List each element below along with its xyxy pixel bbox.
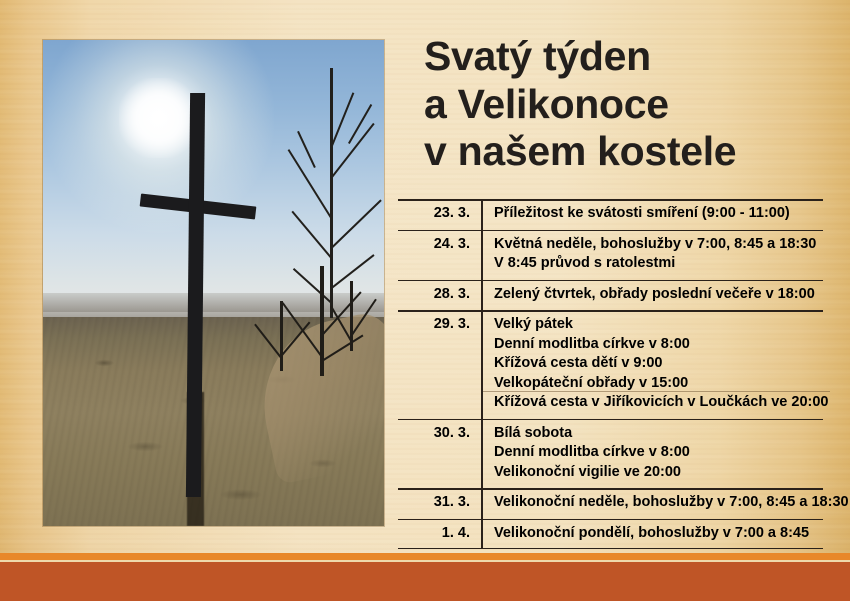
schedule-description: Velikonoční pondělí, bohoslužby v 7:00 a… [481, 519, 823, 550]
schedule-line: Velký pátek [494, 315, 828, 335]
row-rule [398, 419, 823, 421]
schedule-line: V 8:45 průvod s ratolestmi [494, 254, 823, 274]
title-line-3: v našem kostele [424, 128, 844, 176]
schedule-table: 23. 3.Příležitost ke svátosti smíření (9… [398, 199, 823, 549]
schedule-description: Květná neděle, bohoslužby v 7:00, 8:45 a… [481, 230, 823, 280]
schedule-row: 23. 3.Příležitost ke svátosti smíření (9… [398, 199, 823, 230]
schedule-description: Příležitost ke svátosti smíření (9:00 - … [481, 199, 823, 230]
schedule-line: Zelený čtvrtek, obřady poslední večeře v… [494, 285, 823, 305]
page-title: Svatý týden a Velikonoce v našem kostele [424, 33, 844, 176]
schedule-date: 31. 3. [398, 488, 481, 519]
schedule-line: Velikonoční pondělí, bohoslužby v 7:00 a… [494, 524, 823, 544]
schedule-date: 23. 3. [398, 199, 481, 230]
easter-schedule-poster: Svatý týden a Velikonoce v našem kostele… [0, 0, 850, 601]
schedule-row: 24. 3.Květná neděle, bohoslužby v 7:00, … [398, 230, 823, 280]
schedule-row: 28. 3.Zelený čtvrtek, obřady poslední ve… [398, 280, 823, 311]
schedule-date: 29. 3. [398, 310, 481, 419]
row-rule [398, 230, 823, 232]
schedule-row: 29. 3.Velký pátekDenní modlitba církve v… [398, 310, 823, 419]
schedule-row: 1. 4.Velikonoční pondělí, bohoslužby v 7… [398, 519, 823, 550]
row-rule [398, 280, 823, 282]
schedule-line: Bílá sobota [494, 424, 823, 444]
schedule-line: Příležitost ke svátosti smíření (9:00 - … [494, 204, 823, 224]
row-rule [398, 199, 823, 201]
schedule-date: 1. 4. [398, 519, 481, 550]
bare-tree-lower-right [250, 256, 380, 376]
schedule-date: 24. 3. [398, 230, 481, 280]
schedule-description: Velký pátekDenní modlitba církve v 8:00K… [481, 310, 828, 419]
schedule-row: 31. 3.Velikonoční neděle, bohoslužby v 7… [398, 488, 823, 519]
schedule-line: Velikonoční vigilie ve 20:00 [494, 463, 823, 483]
schedule-description: Velikonoční neděle, bohoslužby v 7:00, 8… [481, 488, 849, 519]
schedule-line: Květná neděle, bohoslužby v 7:00, 8:45 a… [494, 235, 823, 255]
row-rule [398, 310, 823, 312]
cross-photograph [43, 40, 384, 526]
row-rule [398, 488, 823, 490]
schedule-line: Křížová cesta dětí v 9:00 [494, 354, 828, 374]
schedule-date: 28. 3. [398, 280, 481, 311]
terracotta-footer-band [0, 562, 850, 601]
schedule-line: Denní modlitba církve v 8:00 [494, 335, 828, 355]
schedule-line: Denní modlitba církve v 8:00 [494, 443, 823, 463]
orange-stripe [0, 553, 850, 560]
row-rule [398, 519, 823, 521]
schedule-description: Bílá sobotaDenní modlitba církve v 8:00V… [481, 419, 823, 489]
schedule-line: Křížová cesta v Jiříkovicích v Loučkách … [494, 393, 828, 413]
schedule-description: Zelený čtvrtek, obřady poslední večeře v… [481, 280, 823, 311]
schedule-row: 30. 3.Bílá sobotaDenní modlitba církve v… [398, 419, 823, 489]
title-line-1: Svatý týden [424, 33, 844, 81]
title-line-2: a Velikonoce [424, 81, 844, 129]
sun-core [119, 78, 199, 158]
table-bottom-rule [398, 548, 823, 550]
schedule-date: 30. 3. [398, 419, 481, 489]
schedule-line: Velikonoční neděle, bohoslužby v 7:00, 8… [494, 493, 849, 513]
